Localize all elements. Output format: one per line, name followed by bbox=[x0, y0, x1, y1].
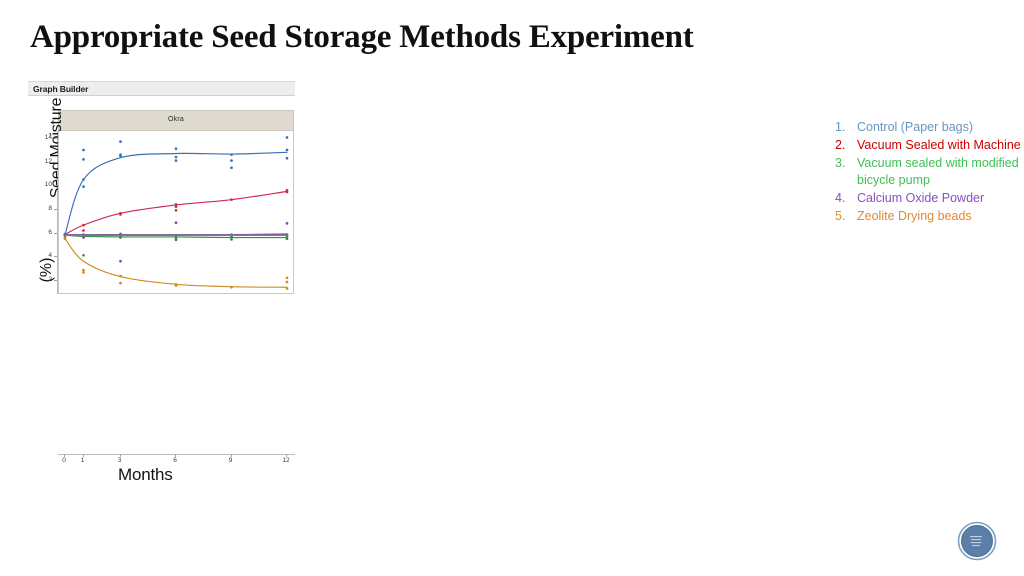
y-tick-label: 8 bbox=[36, 205, 52, 212]
data-point bbox=[82, 185, 85, 188]
data-point bbox=[230, 238, 233, 241]
data-point bbox=[82, 254, 85, 257]
legend-item-label: Calcium Oxide Powder bbox=[857, 190, 1021, 208]
y-tick-mark bbox=[54, 138, 57, 139]
legend-item-label: Control (Paper bags) bbox=[857, 119, 1021, 137]
data-point bbox=[175, 221, 178, 224]
data-point bbox=[286, 276, 289, 279]
data-point bbox=[119, 260, 122, 263]
series-line bbox=[65, 191, 287, 234]
legend-item-number: 3. bbox=[831, 155, 857, 173]
data-point bbox=[175, 147, 178, 150]
data-point bbox=[286, 222, 289, 225]
facet-label-okra: Okra bbox=[59, 116, 293, 123]
legend-list: 1.Control (Paper bags)2.Vacuum Sealed wi… bbox=[831, 119, 1021, 226]
data-point bbox=[82, 269, 85, 272]
y-tick-label: 6 bbox=[36, 229, 52, 236]
data-point bbox=[119, 140, 122, 143]
legend-item-label: Zeolite Drying beads bbox=[857, 208, 1021, 226]
legend-item-number: 5. bbox=[831, 208, 857, 226]
data-point bbox=[82, 229, 85, 232]
data-point bbox=[230, 159, 233, 162]
data-point bbox=[175, 209, 178, 212]
data-point bbox=[230, 166, 233, 169]
facet-strip: Okra bbox=[58, 110, 294, 131]
x-tick-label: 0 bbox=[57, 457, 71, 464]
legend-item: 4.Calcium Oxide Powder bbox=[831, 190, 1021, 208]
y-tick-mark bbox=[54, 256, 57, 257]
data-point bbox=[286, 281, 289, 284]
y-tick-label: 2 bbox=[36, 276, 52, 283]
y-tick-mark bbox=[54, 209, 57, 210]
x-axis-label: Months bbox=[118, 465, 173, 485]
data-point bbox=[175, 239, 178, 242]
y-tick-mark bbox=[54, 162, 57, 163]
graph-builder-header: Graph Builder bbox=[28, 81, 295, 96]
data-point bbox=[286, 136, 289, 139]
data-point bbox=[82, 271, 85, 274]
y-tick-label: 14 bbox=[36, 134, 52, 141]
y-tick-label: 12 bbox=[36, 158, 52, 165]
data-point bbox=[82, 236, 85, 239]
x-axis-group: 0136912 Months bbox=[58, 446, 295, 484]
graph-builder-panel: Graph Builder Okra Seed Moisture (%) 246… bbox=[28, 81, 295, 296]
x-tick-label: 6 bbox=[168, 457, 182, 464]
page-title: Appropriate Seed Storage Methods Experim… bbox=[30, 20, 694, 55]
legend-item-label: Vacuum Sealed with Machine bbox=[857, 137, 1021, 155]
y-tick-mark bbox=[54, 280, 57, 281]
data-point bbox=[175, 159, 178, 162]
data-point bbox=[286, 149, 289, 152]
plot-area bbox=[58, 131, 294, 294]
legend-item-number: 4. bbox=[831, 190, 857, 208]
y-tick-mark bbox=[54, 185, 57, 186]
x-tick-label: 1 bbox=[76, 457, 90, 464]
y-tick-label: 4 bbox=[36, 252, 52, 259]
legend-item: 5.Zeolite Drying beads bbox=[831, 208, 1021, 226]
plot-svg bbox=[59, 131, 293, 292]
x-axis-line bbox=[58, 454, 295, 455]
y-tick-mark bbox=[54, 233, 57, 234]
data-point bbox=[82, 149, 85, 152]
data-point bbox=[175, 156, 178, 159]
x-tick-label: 9 bbox=[224, 457, 238, 464]
series-group bbox=[64, 237, 289, 290]
legend-item-number: 1. bbox=[831, 119, 857, 137]
data-point bbox=[82, 158, 85, 161]
series-line bbox=[65, 239, 287, 288]
y-tick-label: 10 bbox=[36, 181, 52, 188]
legend-item-label: Vacuum sealed with modified bicycle pump bbox=[857, 155, 1021, 191]
data-point bbox=[119, 282, 122, 285]
x-tick-label: 12 bbox=[279, 457, 293, 464]
organization-seal-logo bbox=[957, 521, 997, 561]
series-group bbox=[64, 234, 289, 257]
series-group bbox=[64, 221, 289, 262]
legend-item: 2.Vacuum Sealed with Machine bbox=[831, 137, 1021, 155]
series-group bbox=[64, 189, 289, 237]
data-point bbox=[286, 157, 289, 160]
legend-item: 3.Vacuum sealed with modified bicycle pu… bbox=[831, 155, 1021, 191]
data-point bbox=[175, 205, 178, 208]
legend-item-number: 2. bbox=[831, 137, 857, 155]
legend-item: 1.Control (Paper bags) bbox=[831, 119, 1021, 137]
x-tick-label: 3 bbox=[113, 457, 127, 464]
